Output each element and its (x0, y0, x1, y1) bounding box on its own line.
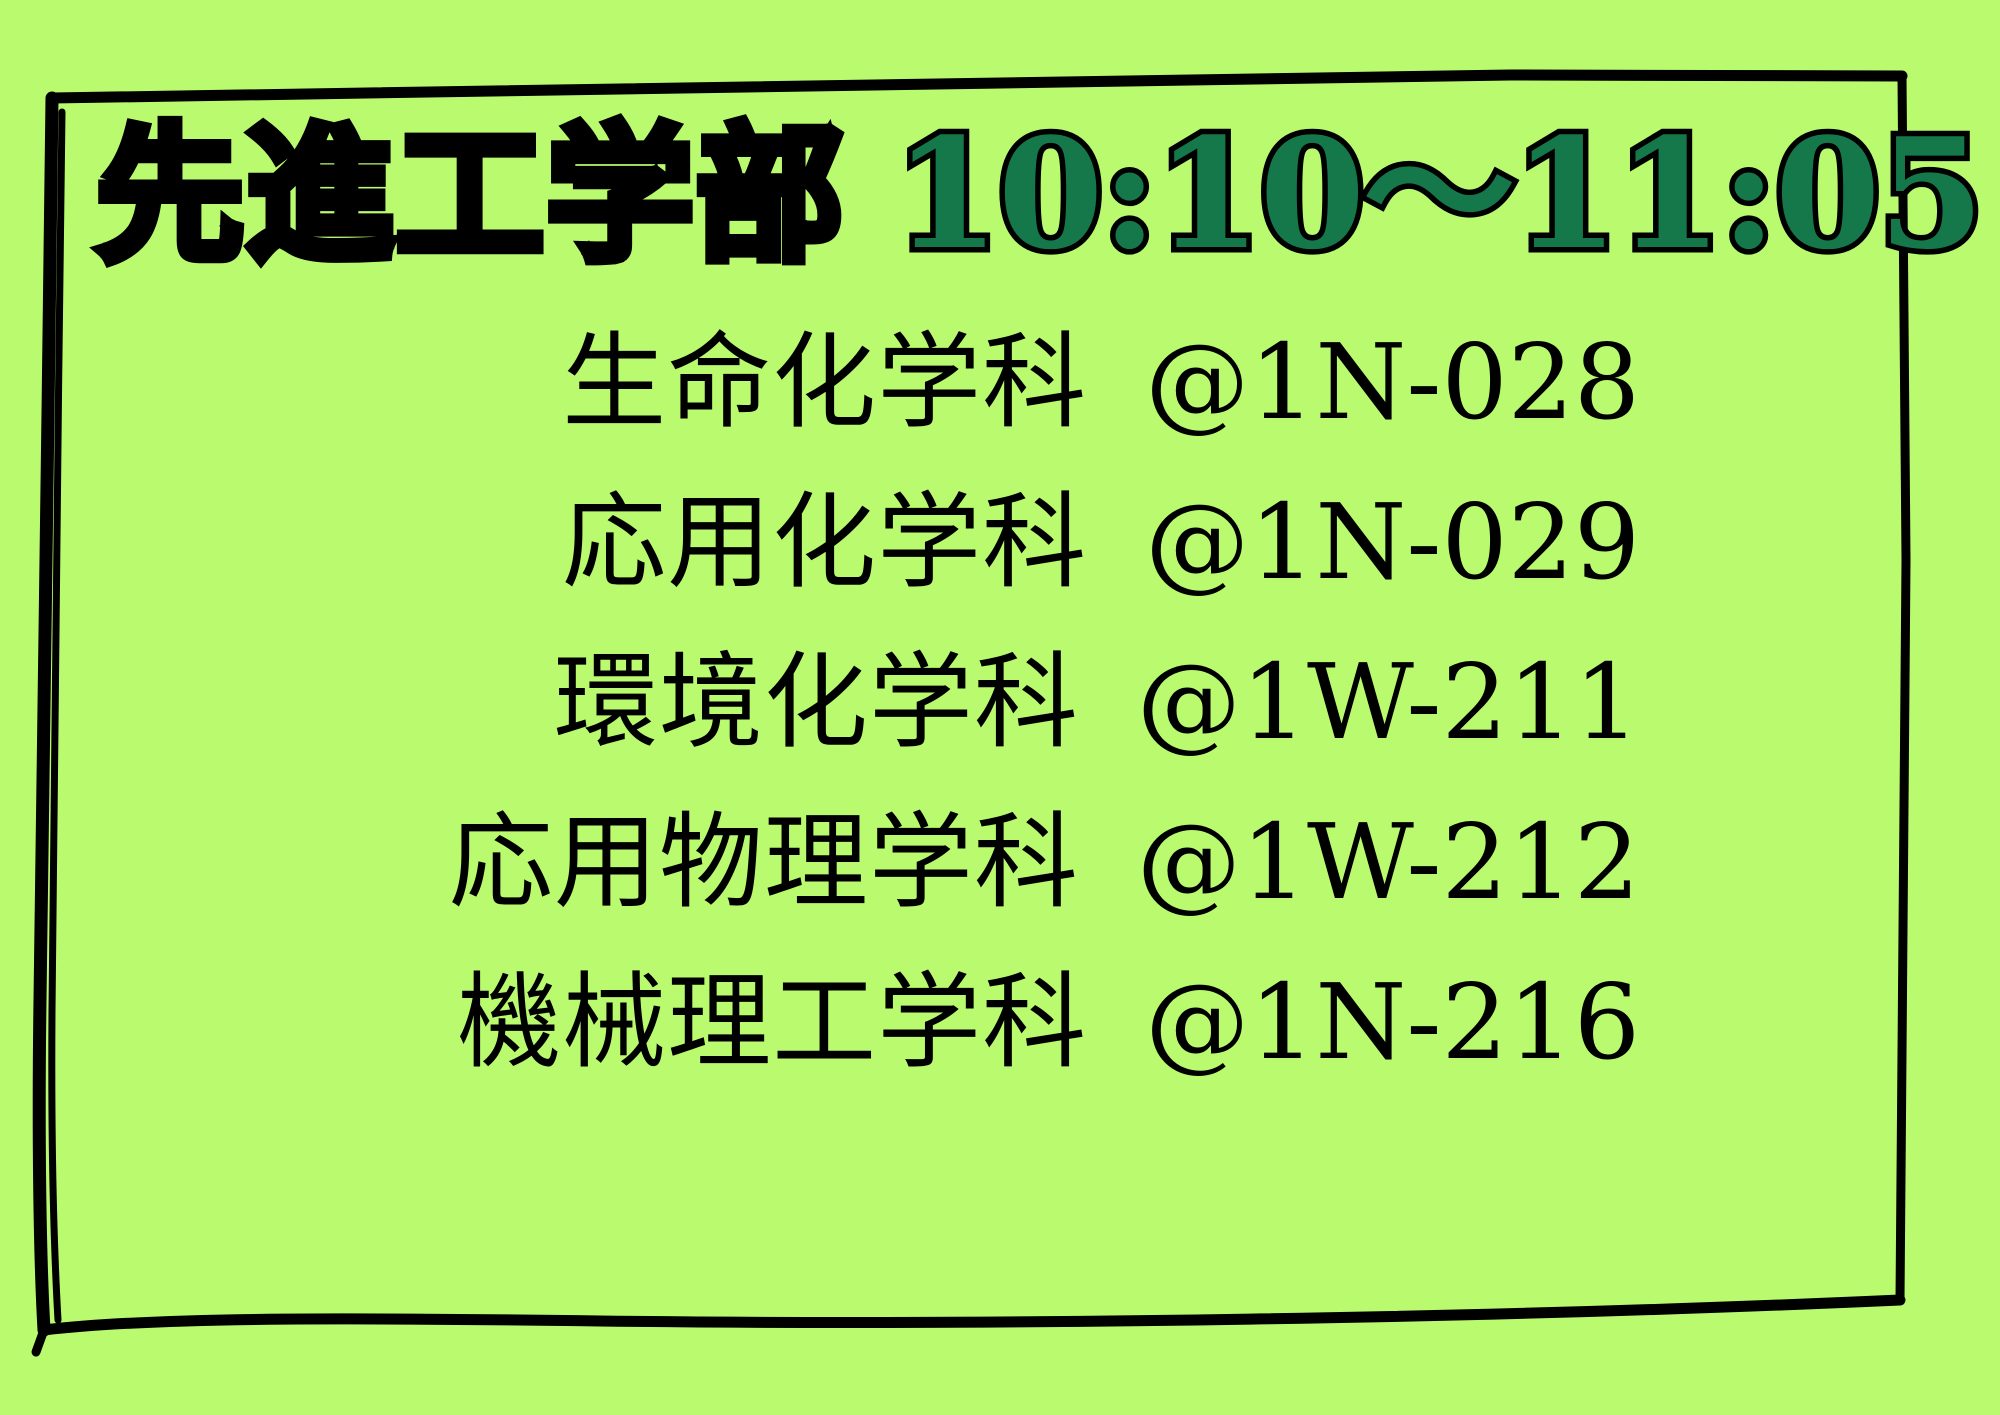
list-item: 生命化学科 @1N-028 (0, 330, 1640, 490)
department-name: 機械理工学科 (457, 970, 1087, 1074)
time-range: 10:10〜11:05 (894, 118, 1982, 270)
list-item: 応用物理学科 @1W-212 (0, 810, 1640, 970)
department-name: 生命化学科 (562, 330, 1087, 434)
room-code: @1W-211 (1137, 650, 1640, 754)
room-code: @1N-216 (1145, 970, 1640, 1074)
room-code: @1N-028 (1145, 330, 1640, 434)
faculty-title: 先進工学部 (96, 122, 846, 270)
poster-header: 先進工学部 10:10〜11:05 (96, 118, 1926, 308)
room-code: @1N-029 (1145, 490, 1640, 594)
list-item: 機械理工学科 @1N-216 (0, 970, 1640, 1130)
list-item: 応用化学科 @1N-029 (0, 490, 1640, 650)
list-item: 環境化学科 @1W-211 (0, 650, 1640, 810)
department-name: 応用物理学科 (449, 810, 1079, 914)
department-list: 生命化学科 @1N-028 応用化学科 @1N-029 環境化学科 @1W-21… (0, 330, 1640, 1130)
department-name: 応用化学科 (562, 490, 1087, 594)
department-name: 環境化学科 (554, 650, 1079, 754)
poster-root: 先進工学部 10:10〜11:05 生命化学科 @1N-028 応用化学科 @1… (0, 0, 2000, 1415)
room-code: @1W-212 (1137, 810, 1640, 914)
